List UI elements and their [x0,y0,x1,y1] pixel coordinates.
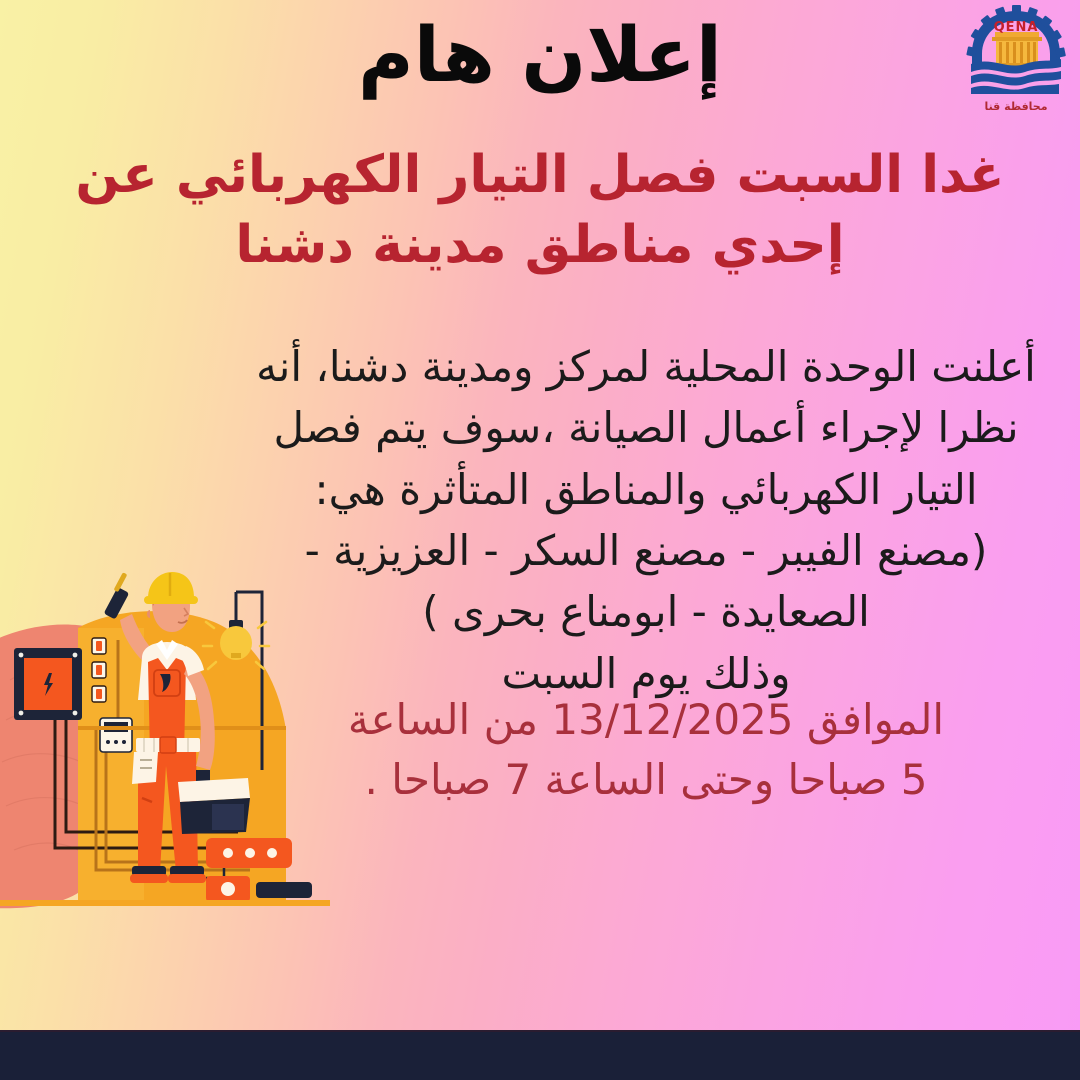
switches-icon [92,638,106,702]
body-line: التيار الكهربائي والمناطق المتأثرة هي: [250,459,1042,520]
affected-areas-line: (مصنع الفيبر - مصنع السكر - العزيزية - [250,520,1042,581]
electrician-illustration-icon [0,570,330,915]
body-line: نظرا لإجراء أعمال الصيانة ،سوف يتم فصل [250,397,1042,458]
subtitle-line: مناطق مدينة دشنا [235,215,693,275]
affected-areas-line: الصعايدة - ابومناع بحرى ) [250,581,1042,642]
footer-bar [0,1030,1080,1080]
logo-caption: محافظة قنا [960,101,1072,112]
meter-icon [100,718,132,752]
outage-schedule: الموافق 13/12/2025 من الساعة 5 صباحا وحت… [250,690,1042,809]
announcement-subtitle: غدا السبت فصل التيار الكهربائي عن إحدي م… [34,140,1046,280]
electrician-worker-illustration [0,570,330,915]
outage-date-line: الموافق 13/12/2025 من الساعة [250,690,1042,750]
outage-time-line: 5 صباحا وحتى الساعة 7 صباحا . [250,750,1042,810]
breaker-box-icon [14,648,82,720]
announcement-poster: QENA محافظة قنا إعلان هام غدا السبت فصل … [0,0,1080,1080]
page-title: إعلان هام [0,14,1080,96]
body-line: أعلنت الوحدة المحلية لمركز ومدينة دشنا، … [250,336,1042,397]
announcement-body: أعلنت الوحدة المحلية لمركز ومدينة دشنا، … [250,336,1042,704]
screwdriver-icon [104,572,130,619]
